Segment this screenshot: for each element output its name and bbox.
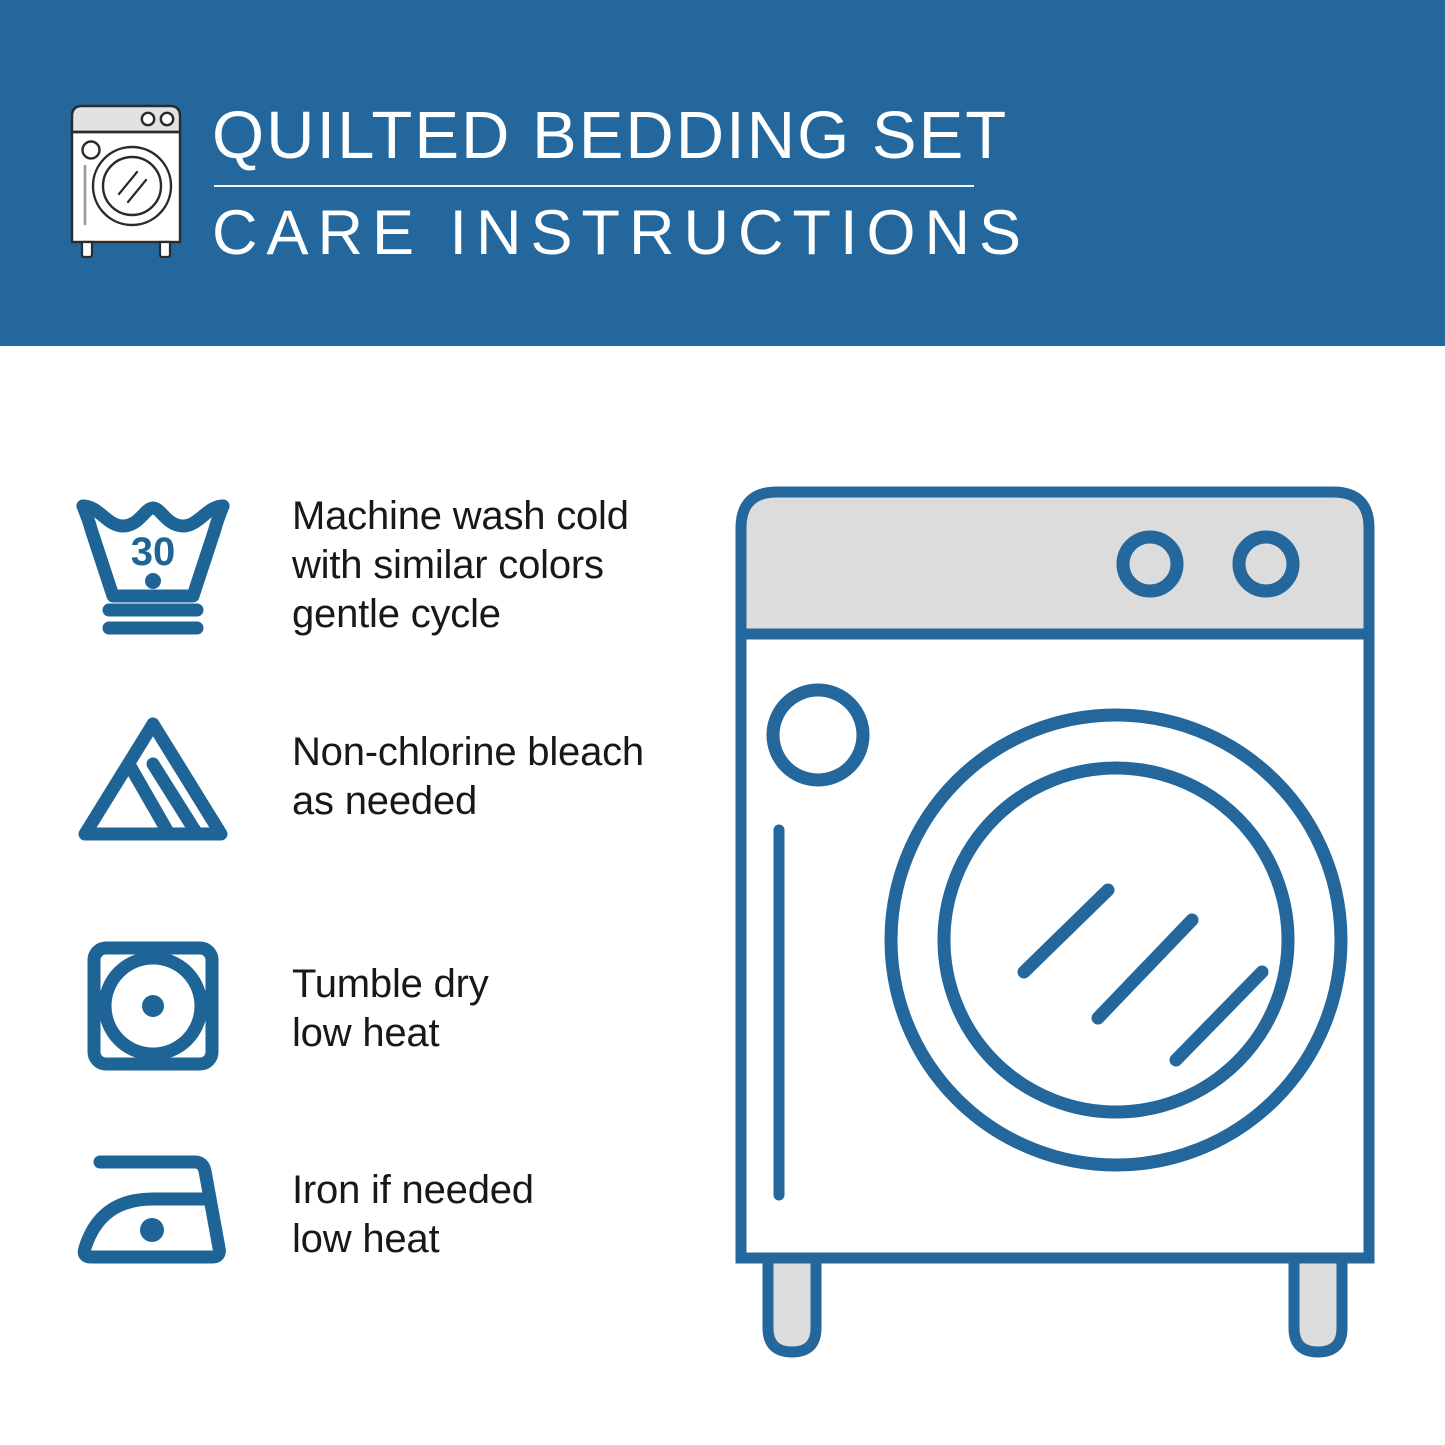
care-text-bleach: Non-chlorine bleach as needed — [292, 714, 644, 826]
care-row-bleach: Non-chlorine bleach as needed — [68, 714, 644, 846]
washing-machine-illustration — [726, 480, 1406, 1370]
care-text-iron: Iron if needed low heat — [292, 1144, 534, 1264]
title-divider — [214, 185, 974, 187]
leg-left — [768, 1248, 816, 1352]
non-chlorine-bleach-triangle-icon — [68, 714, 238, 846]
wash-tub-30-gentle-icon: 30 — [68, 492, 238, 638]
care-instructions-list: 30 Machine wash cold with similar colors… — [0, 346, 700, 1445]
drum-inner-ring — [944, 768, 1288, 1112]
care-row-iron: Iron if needed low heat — [68, 1144, 534, 1272]
page-title: QUILTED BEDDING SET — [212, 96, 1212, 176]
knob-left — [1123, 537, 1177, 591]
care-instructions-page: QUILTED BEDDING SET CARE INSTRUCTIONS 30 — [0, 0, 1445, 1445]
care-text-tumble-dry: Tumble dry low heat — [292, 936, 489, 1058]
knob-right — [1239, 537, 1293, 591]
tumble-dry-low-heat-icon — [68, 936, 238, 1076]
iron-low-heat-icon — [68, 1144, 238, 1272]
wash-temperature-label: 30 — [131, 530, 176, 574]
header-banner: QUILTED BEDDING SET CARE INSTRUCTIONS — [0, 0, 1445, 346]
washing-machine-icon — [66, 98, 192, 258]
care-row-machine-wash: 30 Machine wash cold with similar colors… — [68, 492, 629, 639]
care-text-machine-wash: Machine wash cold with similar colors ge… — [292, 492, 629, 639]
detergent-drawer-circle — [773, 690, 863, 780]
page-subtitle: CARE INSTRUCTIONS — [212, 195, 1212, 271]
leg-right — [1294, 1248, 1342, 1352]
care-row-tumble-dry: Tumble dry low heat — [68, 936, 489, 1076]
header-text-block: QUILTED BEDDING SET CARE INSTRUCTIONS — [212, 96, 1212, 271]
